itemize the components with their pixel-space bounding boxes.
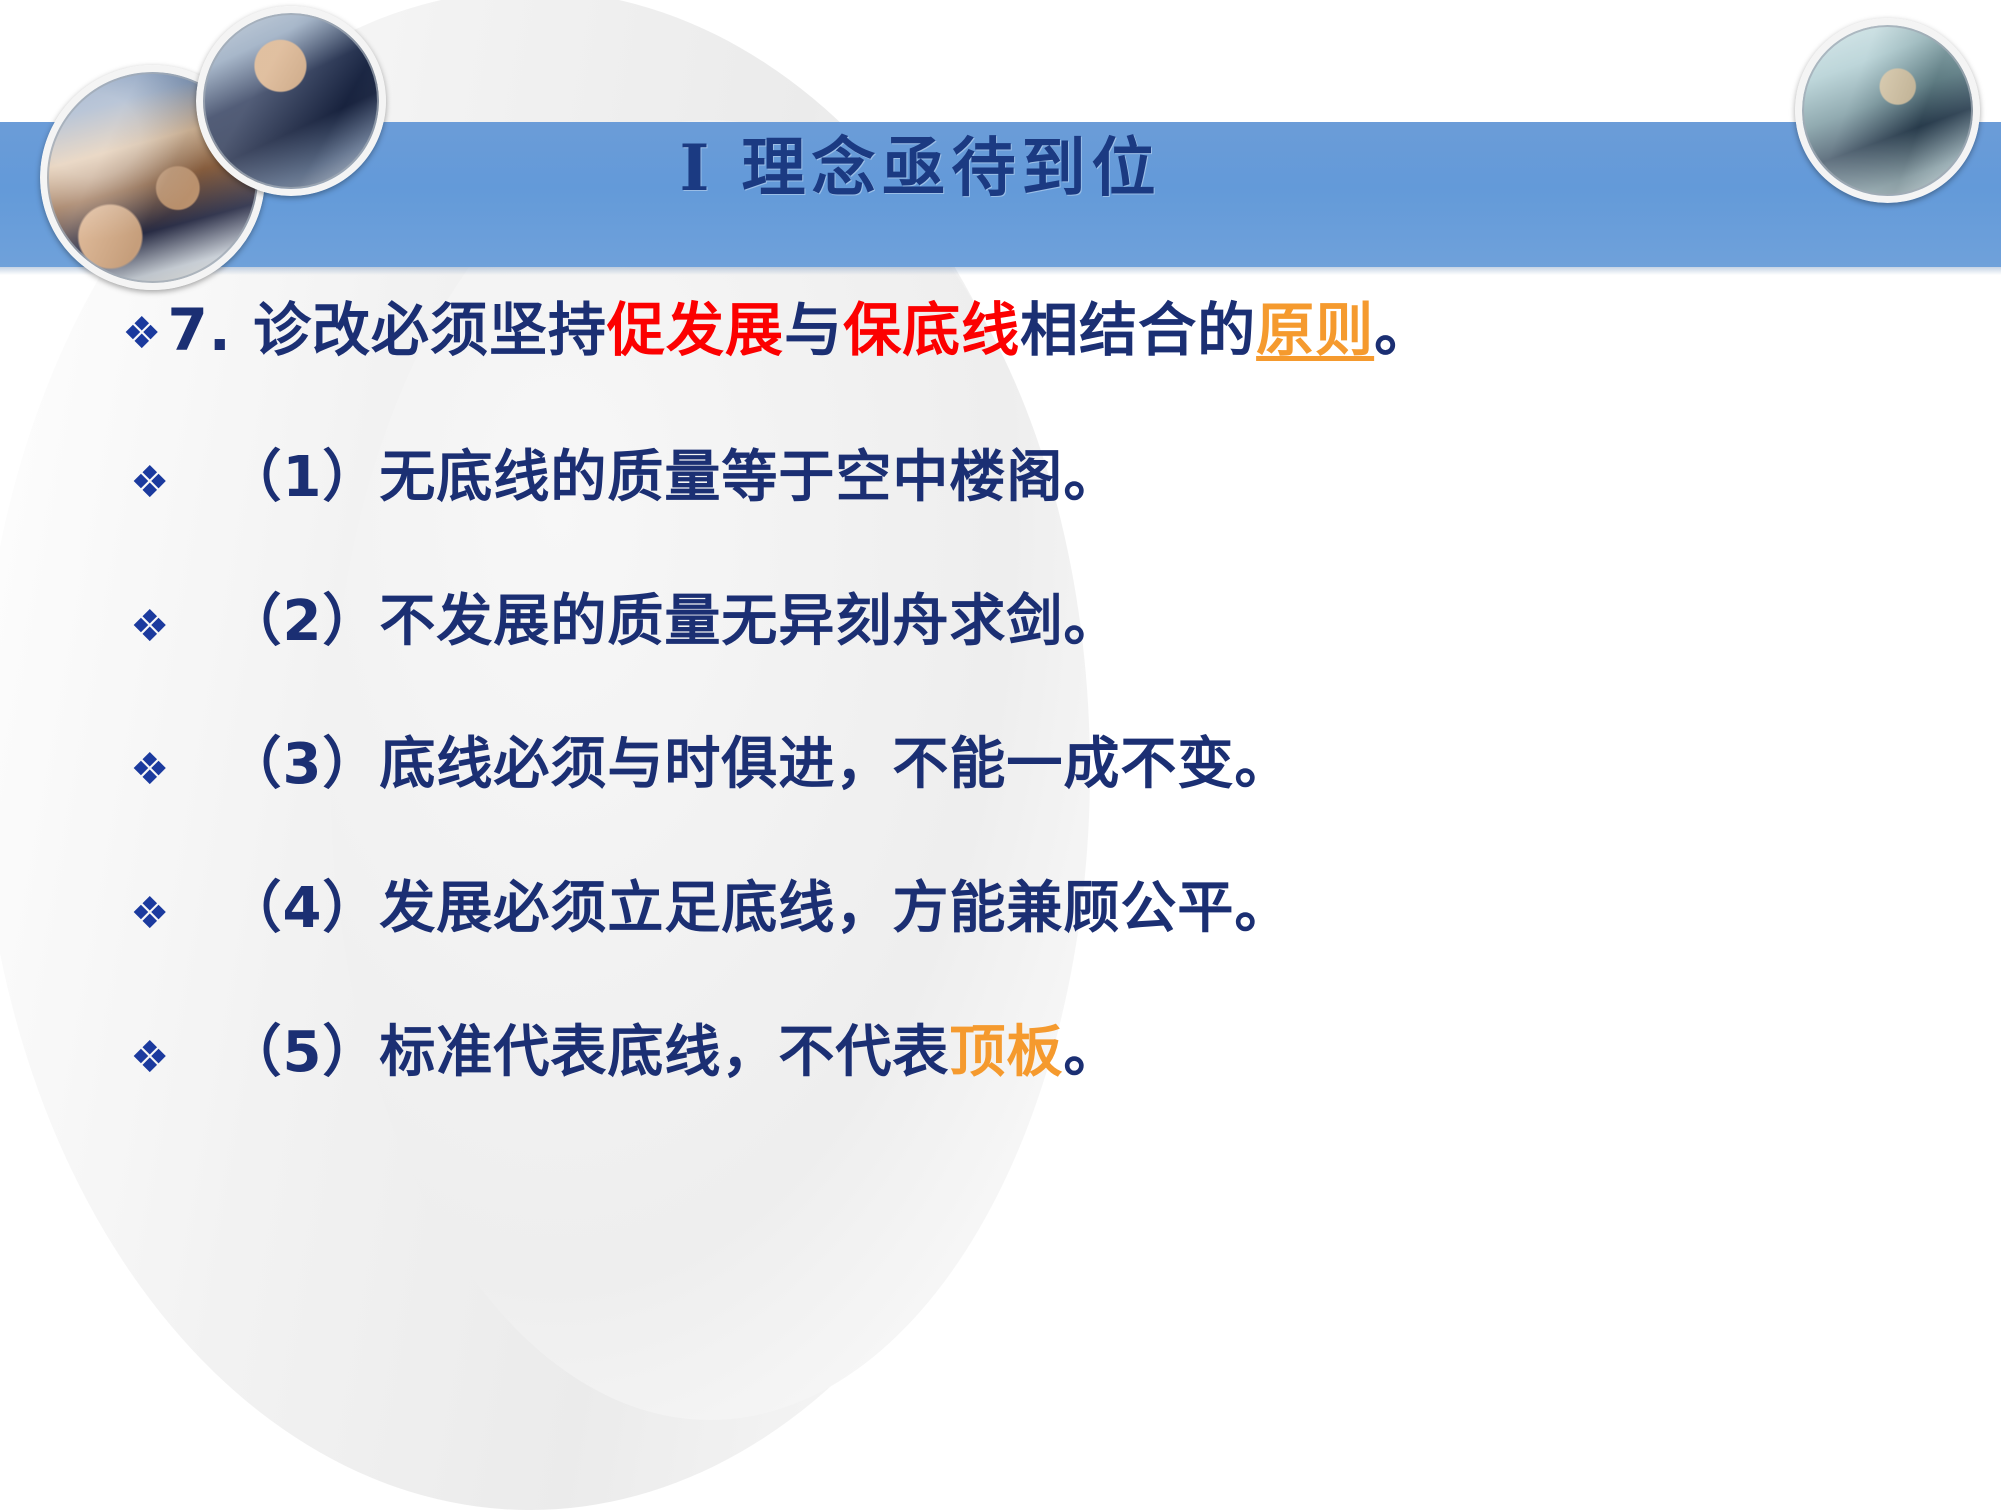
bullet-line-5: ❖ （5）标准代表底线，不代表顶板。 xyxy=(130,1024,2001,1083)
diamond-bullet-icon: ❖ xyxy=(130,605,169,649)
bullet-line-1: ❖ （1）无底线的质量等于空中楼阁。 xyxy=(130,449,2001,508)
bullet-line-principle: ❖ 7. 诊改必须坚持促发展与保底线相结合的原则。 xyxy=(122,300,2001,361)
diamond-bullet-icon: ❖ xyxy=(130,748,169,792)
bullet-line-3: ❖ （3）底线必须与时俱进，不能一成不变。 xyxy=(130,736,2001,795)
text-segment: 。 xyxy=(1063,1020,1120,1085)
bullet-line-4: ❖ （4）发展必须立足底线，方能兼顾公平。 xyxy=(130,880,2001,939)
text-segment-highlight-red: 促发展 xyxy=(607,296,784,364)
bullet-line-text: （4）发展必须立足底线，方能兼顾公平。 xyxy=(225,880,1291,939)
diamond-bullet-icon: ❖ xyxy=(130,892,169,936)
text-segment: （5）标准代表底线，不代表 xyxy=(225,1020,949,1085)
page-title-text: 理念亟待到位 xyxy=(741,131,1161,206)
bullet-line-2: ❖ （2）不发展的质量无异刻舟求剑。 xyxy=(130,593,2001,652)
photo-businessman-presenting xyxy=(1795,18,1980,203)
diamond-bullet-icon: ❖ xyxy=(130,461,169,505)
photo-businessman-presenting-image xyxy=(1802,25,1973,196)
diamond-bullet-icon: ❖ xyxy=(122,312,161,356)
header-banner-shadow xyxy=(0,267,2001,275)
text-segment: 相结合的 xyxy=(1020,296,1256,364)
text-segment: 7. 诊改必须坚持 xyxy=(167,296,607,364)
text-segment-highlight-red: 保底线 xyxy=(843,296,1020,364)
bullet-line-text: （5）标准代表底线，不代表顶板。 xyxy=(225,1024,1120,1083)
bullet-line-text: （3）底线必须与时俱进，不能一成不变。 xyxy=(225,736,1291,795)
text-segment-highlight-orange: 顶板 xyxy=(949,1020,1063,1085)
bullet-line-text: （1）无底线的质量等于空中楼阁。 xyxy=(225,449,1120,508)
text-segment-highlight-orange-underline: 原则 xyxy=(1256,296,1374,364)
diamond-bullet-icon: ❖ xyxy=(130,1036,169,1080)
bullet-line-text: （2）不发展的质量无异刻舟求剑。 xyxy=(225,593,1120,652)
bullet-line-text: 7. 诊改必须坚持促发展与保底线相结合的原则。 xyxy=(167,300,1433,361)
photo-businessman-handshake-image xyxy=(203,13,379,189)
text-segment: 。 xyxy=(1374,296,1433,364)
page-title-numeral: Ⅰ xyxy=(680,131,716,206)
photo-businessman-handshake xyxy=(196,6,386,196)
text-segment: 与 xyxy=(784,296,843,364)
slide-body: ❖ 7. 诊改必须坚持促发展与保底线相结合的原则。 ❖ （1）无底线的质量等于空… xyxy=(0,300,2001,1168)
